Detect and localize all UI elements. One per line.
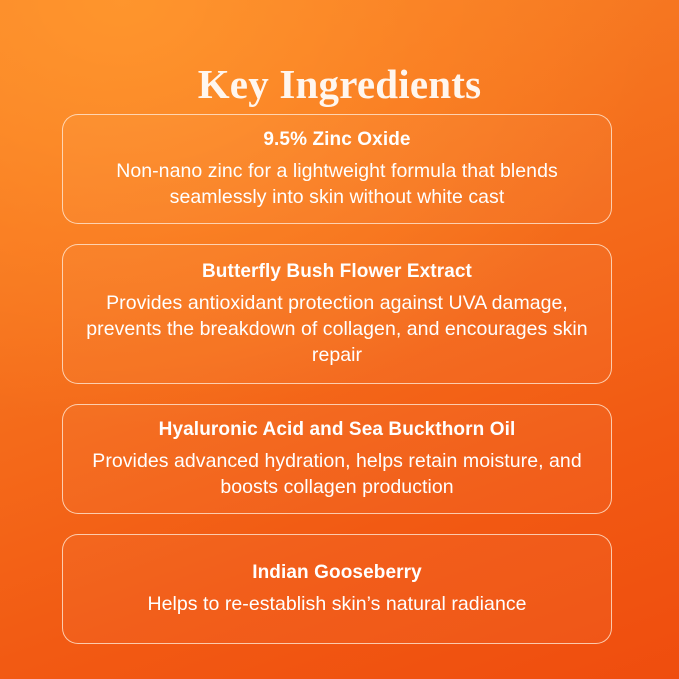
key-ingredients-poster: Key Ingredients 9.5% Zinc Oxide Non-nano… bbox=[0, 0, 679, 679]
ingredient-card-zinc-oxide: 9.5% Zinc Oxide Non-nano zinc for a ligh… bbox=[62, 114, 612, 224]
ingredient-heading: Hyaluronic Acid and Sea Buckthorn Oil bbox=[159, 418, 516, 442]
ingredient-card-hyaluronic-acid-sea-buckthorn-oil: Hyaluronic Acid and Sea Buckthorn Oil Pr… bbox=[62, 404, 612, 514]
page-title: Key Ingredients bbox=[0, 61, 679, 108]
ingredient-description: Provides advanced hydration, helps retai… bbox=[77, 448, 597, 500]
ingredient-description: Non-nano zinc for a lightweight formula … bbox=[77, 158, 597, 210]
ingredient-description: Provides antioxidant protection against … bbox=[77, 290, 597, 368]
ingredient-card-indian-gooseberry: Indian Gooseberry Helps to re-establish … bbox=[62, 534, 612, 644]
ingredient-heading: Butterfly Bush Flower Extract bbox=[202, 260, 472, 284]
ingredient-description: Helps to re-establish skin’s natural rad… bbox=[147, 591, 526, 617]
ingredient-heading: Indian Gooseberry bbox=[252, 561, 422, 585]
ingredient-card-list: 9.5% Zinc Oxide Non-nano zinc for a ligh… bbox=[62, 114, 612, 644]
ingredient-card-butterfly-bush-flower-extract: Butterfly Bush Flower Extract Provides a… bbox=[62, 244, 612, 384]
ingredient-heading: 9.5% Zinc Oxide bbox=[263, 128, 410, 152]
